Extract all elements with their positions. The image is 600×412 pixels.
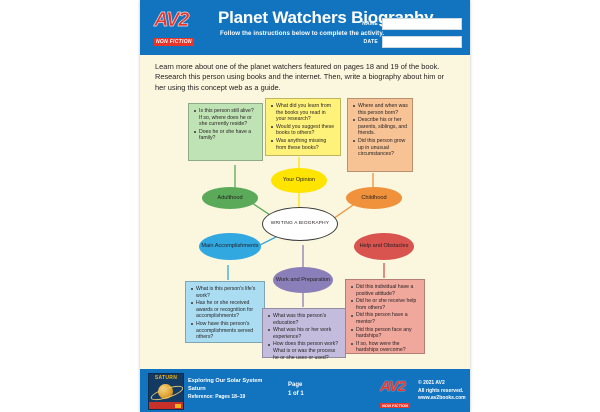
page-footer: SATURN Exploring Our Solar System Saturn… [140,369,470,412]
date-field-group: DATE [364,36,462,47]
footer-av2-logo-subtext: NON FICTION [380,403,410,408]
questions-main-accomplishments: What is this person's life's work? Has h… [185,281,265,343]
questions-help-and-obstacles: Did this individual have a positive atti… [345,279,425,354]
questions-work-and-preparation: What was this person's education? What w… [262,308,346,358]
name-label: NAME [362,21,378,27]
question-item: Did he or she receive help from others? [351,298,420,311]
oval-work-and-preparation[interactable]: Work and Preparation [273,267,333,293]
question-item: How have this person's accomplishments s… [191,321,260,341]
worksheet-sheet: AV2 NON FICTION Planet Watchers Biograph… [140,0,470,412]
footer-av2-logo-text: AV2 [380,379,410,394]
name-input[interactable] [382,18,462,30]
question-item: Is this person still alive? If so, where… [194,108,258,128]
question-item: Has he or she received awards or recogni… [191,300,260,320]
av2-logo: AV2 NON FICTION [154,10,212,40]
footer-copyright: © 2021 AV2 [418,380,466,388]
date-input[interactable] [382,36,462,48]
question-item: Would you suggest these books to others? [271,124,336,137]
footer-website[interactable]: www.av2books.com [418,395,466,403]
av2-logo-subtext: NON FICTION [154,38,194,46]
av2-logo-text: AV2 [154,10,212,30]
center-node-label: WRITING A BIOGRAPHY [271,221,329,227]
footer-copyright-block: © 2021 AV2 All rights reserved. www.av2b… [418,380,466,403]
oval-help-and-obstacles[interactable]: Help and Obstacles [354,233,414,260]
oval-childhood[interactable]: Childhood [346,187,402,209]
footer-book-title: Saturn [188,385,262,393]
question-item: Did this individual have a positive atti… [351,284,420,297]
questions-your-opinion: What did you learn from the books you re… [265,98,341,156]
question-item: What is this person's life's work? [191,286,260,299]
footer-series: Exploring Our Solar System [188,377,262,385]
book-cover-title: SATURN [149,375,183,381]
questions-adulthood: Is this person still alive? If so, where… [188,103,263,161]
question-item: Did this person grow up in unusual circu… [353,138,408,158]
question-item: Where and when was this person born? [353,103,408,116]
footer-reference: Reference: Pages 18–19 [188,393,262,401]
center-node: WRITING A BIOGRAPHY [262,207,338,241]
oval-adulthood-label: Adulthood [217,195,242,202]
question-item: What did you learn from the books you re… [271,103,336,123]
question-item: If so, how were the hardships overcome? [351,341,420,354]
question-item: Does he or she have a family? [194,129,258,142]
oval-your-opinion-label: Your Opinion [283,177,315,184]
footer-page-value: 1 of 1 [288,390,304,399]
oval-help-and-obstacles-label: Help and Obstacles [360,243,409,250]
footer-page-info: Page 1 of 1 [288,381,304,398]
oval-adulthood[interactable]: Adulthood [202,187,258,209]
oval-main-accomplishments-label: Main Accomplishments [201,243,258,250]
question-item: How does this person work? What is or wa… [268,341,341,361]
question-item: Describe his or her parents, siblings, a… [353,117,408,137]
name-field-group: NAME [362,18,462,29]
question-item: Was anything missing from these books? [271,138,336,151]
footer-book-info: Exploring Our Solar System Saturn Refere… [188,377,262,401]
book-cover-band [149,402,183,409]
oval-your-opinion[interactable]: Your Opinion [271,168,327,193]
question-item: Did this person face any hardships? [351,327,420,340]
worksheet-page: AV2 NON FICTION Planet Watchers Biograph… [0,0,600,412]
oval-work-and-preparation-label: Work and Preparation [276,277,330,284]
footer-av2-logo: AV2 NON FICTION [380,379,410,412]
concept-web: WRITING A BIOGRAPHY Adulthood Your Opini… [140,95,470,365]
date-label: DATE [364,39,378,45]
page-subtitle: Follow the instructions below to complet… [220,30,384,37]
instructions-text: Learn more about one of the planet watch… [155,62,455,93]
footer-page-label: Page [288,381,304,390]
question-item: What was his or her work experience? [268,327,341,340]
oval-main-accomplishments[interactable]: Main Accomplishments [199,233,261,260]
question-item: What was this person's education? [268,313,341,326]
questions-childhood: Where and when was this person born? Des… [347,98,413,172]
oval-childhood-label: Childhood [361,195,386,202]
page-header: AV2 NON FICTION Planet Watchers Biograph… [140,0,470,55]
question-item: Did this person have a mentor? [351,312,420,325]
footer-rights: All rights reserved. [418,388,466,396]
book-cover-thumbnail: SATURN [148,373,184,410]
